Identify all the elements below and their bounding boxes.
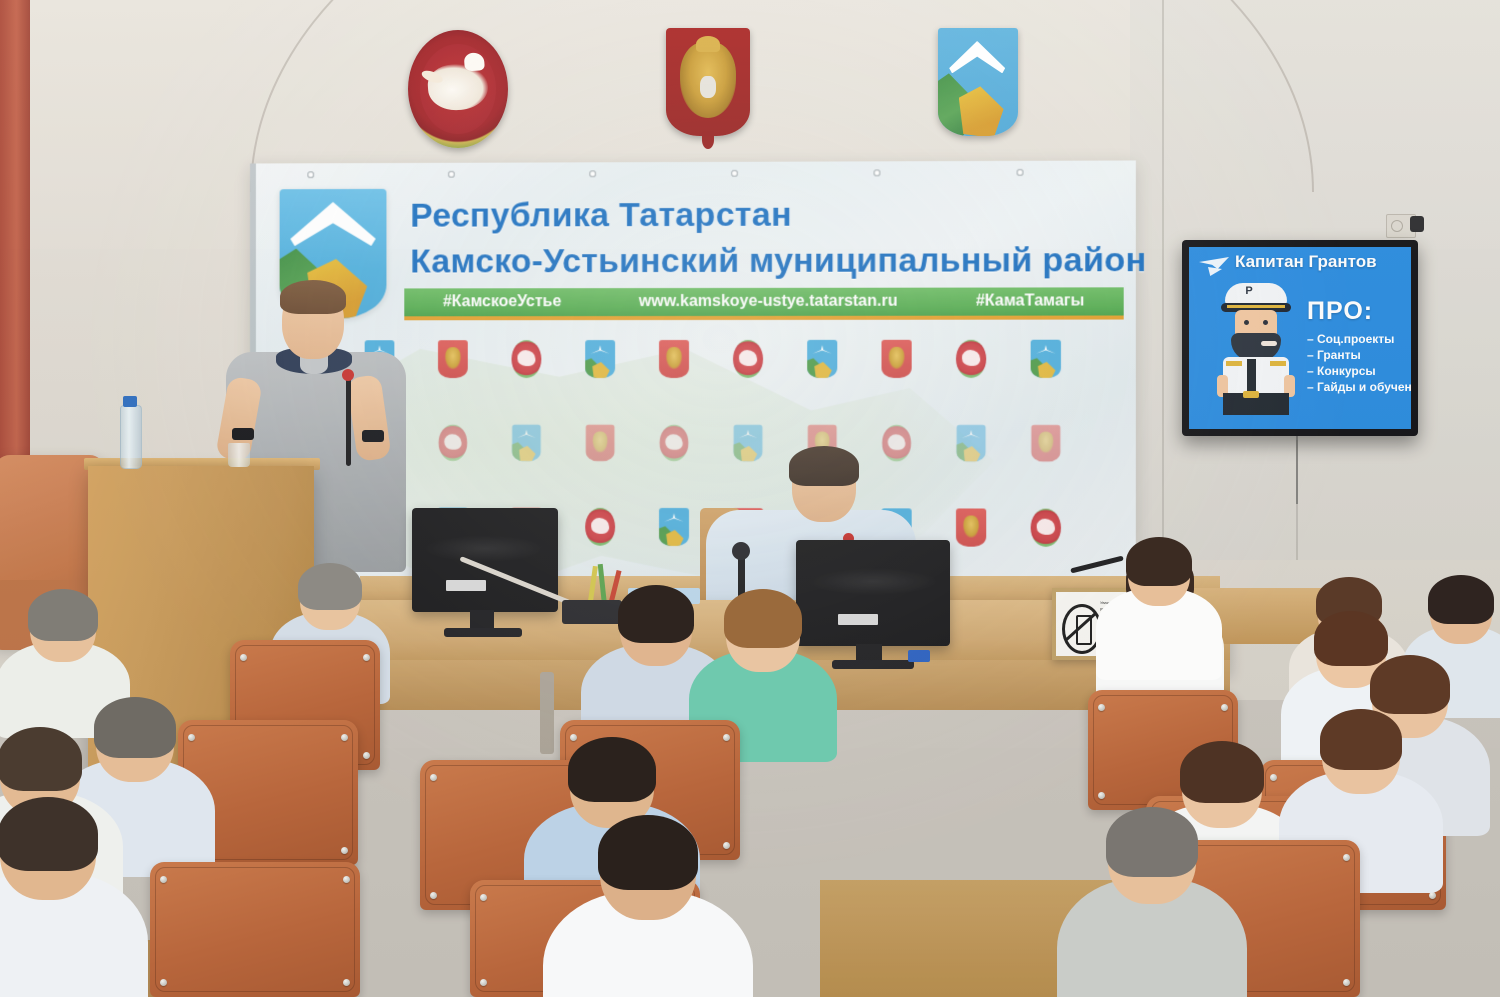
curtain xyxy=(0,0,30,520)
power-plug xyxy=(1410,216,1424,232)
microphone-indicator xyxy=(342,369,354,381)
banner-website: www.kamskoye-ustye.tatarstan.ru xyxy=(639,293,898,311)
chair-rivet xyxy=(480,979,487,986)
slide-title: Капитан Грантов xyxy=(1235,252,1377,272)
banner-crest-dis xyxy=(734,425,763,462)
russia-emblem-icon xyxy=(666,28,750,136)
slide-bullet: – Соц.проекты xyxy=(1307,331,1411,347)
banner-hashtag-left: #КамскоеУстье xyxy=(443,293,561,311)
slide-bullet-list: – Соц.проекты – Гранты – Конкурсы – Гайд… xyxy=(1307,331,1411,395)
banner-crest-rus xyxy=(438,340,468,378)
banner-crest-tat xyxy=(585,508,615,546)
tv-cable xyxy=(1296,436,1298,504)
chair-rivet xyxy=(341,847,348,854)
slide-bullet: – Гранты xyxy=(1307,347,1411,363)
banner-crest-rus xyxy=(956,508,986,546)
monitor-base xyxy=(444,628,522,637)
chair-rivet xyxy=(341,734,348,741)
drinking-glass[interactable] xyxy=(228,443,250,467)
chair-rivet xyxy=(1098,792,1105,799)
speaker-hair xyxy=(280,280,346,314)
desk-equipment xyxy=(562,600,622,624)
banner-crest-rus xyxy=(659,340,689,378)
computer-monitor xyxy=(796,540,950,646)
banner-crest-tat xyxy=(439,425,468,461)
audience-member-hair xyxy=(0,727,82,791)
chair-rivet xyxy=(160,979,167,986)
banner-title-line1: Республика Татарстан xyxy=(410,196,792,236)
table-leg xyxy=(540,672,554,754)
chair-rivet xyxy=(1429,892,1436,899)
audience-member-hair xyxy=(1106,807,1198,877)
audience-member-hair xyxy=(724,589,802,648)
chair-rivet xyxy=(1098,704,1105,711)
chair-rivet xyxy=(160,876,167,883)
telegram-paper-plane-icon xyxy=(1199,255,1229,277)
chair-rivet xyxy=(1343,979,1350,986)
audience-member-hair xyxy=(1320,709,1402,770)
audience-member-hair xyxy=(298,563,362,610)
cable-connector xyxy=(908,650,930,662)
tv-screen: Капитан Грантов Р ПРО: xyxy=(1189,247,1411,429)
audience-member-hair xyxy=(618,585,694,643)
audience-member-hair xyxy=(94,697,176,758)
slide-heading: ПРО: xyxy=(1307,297,1373,326)
banner-contact-strip: #КамскоеУстье www.kamskoye-ustye.tatarst… xyxy=(404,287,1123,320)
chair-rivet xyxy=(480,894,487,901)
wristwatch xyxy=(362,430,384,442)
microphone-head xyxy=(732,542,750,560)
audience-member-hair xyxy=(598,815,698,890)
banner-title-line2: Камско-Устьинский муниципальный район xyxy=(410,241,1146,281)
chair-rivet xyxy=(1270,774,1277,781)
district-emblem-icon xyxy=(938,28,1018,136)
banner-crest-dis xyxy=(512,425,541,461)
banner-crest-rus xyxy=(586,425,615,461)
chair-rivet xyxy=(343,876,350,883)
captain-mascot-icon: Р xyxy=(1217,283,1295,415)
audience-member-hair xyxy=(568,737,656,802)
podium-microphone xyxy=(346,374,351,466)
banner-grommet xyxy=(589,170,596,177)
audience-member-hair xyxy=(1370,655,1450,714)
chair-rivet xyxy=(723,842,730,849)
moderator-hair xyxy=(789,446,859,486)
banner-crest-dis xyxy=(659,508,689,546)
audience-member-hair xyxy=(1314,611,1388,666)
bottle-cap xyxy=(123,396,137,407)
banner-grommet xyxy=(448,171,455,178)
chair-rivet xyxy=(570,734,577,741)
banner-crest-rus xyxy=(882,340,912,378)
banner-crest-tat xyxy=(660,425,689,461)
audience-member-hair xyxy=(28,589,98,641)
water-bottle[interactable] xyxy=(120,405,142,469)
banner-grommet xyxy=(731,170,738,177)
banner-crest-tat xyxy=(512,340,542,378)
banner-hashtag-right: #КамаТамагы xyxy=(976,292,1084,310)
chair-rivet xyxy=(1221,704,1228,711)
audience-member-hair xyxy=(1180,741,1264,803)
table-row[interactable] xyxy=(150,862,360,997)
banner-crest-dis xyxy=(807,340,837,378)
wall-mounted-tv: Капитан Грантов Р ПРО: xyxy=(1182,240,1418,436)
banner-crest-tat xyxy=(733,340,763,378)
banner-grommet xyxy=(873,169,880,176)
cap-letter: Р xyxy=(1243,285,1255,297)
banner-crest-dis xyxy=(957,425,986,462)
chair-rivet xyxy=(1343,854,1350,861)
chair-rivet xyxy=(363,752,370,759)
banner-crest-tat xyxy=(956,340,986,378)
chair-rivet xyxy=(363,654,370,661)
monitor-base xyxy=(832,660,914,669)
conference-hall-photo: Республика Татарстан Камско-Устьинский м… xyxy=(0,0,1500,997)
banner-crest-dis xyxy=(585,340,615,378)
chair-rivet xyxy=(240,654,247,661)
chair-rivet xyxy=(430,774,437,781)
banner-grommet xyxy=(1017,169,1024,176)
banner-crest-rus xyxy=(1031,425,1060,462)
banner-crest-tat xyxy=(1031,509,1061,547)
slide-bullet: – Гайды и обучение xyxy=(1307,379,1411,395)
banner-crest-dis xyxy=(1031,340,1061,378)
banner-crest-tat xyxy=(882,425,911,462)
audience-member-hair xyxy=(1428,575,1494,624)
chair-rivet xyxy=(188,734,195,741)
chair-rivet xyxy=(430,892,437,899)
banner-grommet xyxy=(307,171,314,178)
chair-rivet xyxy=(343,979,350,986)
slide-bullet: – Конкурсы xyxy=(1307,363,1411,379)
audience-member-hair xyxy=(0,797,98,871)
chair-rivet xyxy=(723,734,730,741)
wristwatch xyxy=(232,428,254,440)
computer-monitor xyxy=(412,508,558,612)
tatarstan-emblem-icon xyxy=(408,30,508,148)
audience-member-hair xyxy=(1126,537,1192,586)
